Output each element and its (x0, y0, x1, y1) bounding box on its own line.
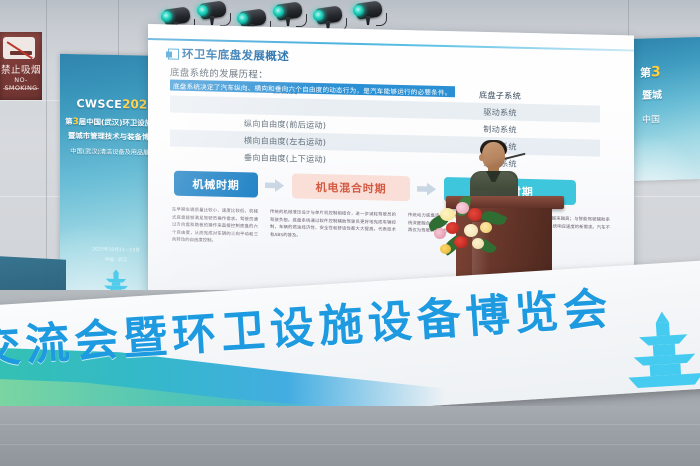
no-smoking-sign: 禁止吸烟 NO-SMOKING (0, 32, 42, 100)
spotlight-icon (272, 1, 306, 27)
wall-seam-vertical (46, 0, 47, 292)
right-banner-line-1: 第3 (640, 64, 661, 81)
slide-bullet-icon (166, 48, 177, 59)
speaker-ear (479, 154, 484, 161)
no-smoking-en-label: NO-SMOKING (0, 76, 42, 92)
right-banner-prefix: 第 (640, 66, 651, 79)
era-chip-mechanical: 机械时期 (174, 171, 258, 198)
banner-logo-text: CWSCE (76, 97, 122, 111)
no-smoking-icon (3, 37, 35, 59)
table-cell: 驱动系统 (400, 103, 600, 120)
floral-arrangement-icon (424, 188, 510, 266)
right-banner-line-2: 暨城 (642, 86, 662, 102)
right-banner-line-3: 中国 (642, 112, 660, 126)
right-banner-ordinal: 3 (651, 64, 661, 80)
spotlight-icon (196, 0, 230, 26)
spotlight-icon (352, 0, 386, 26)
foreground-floor (0, 406, 700, 466)
slide-title: 环卫车底盘发展概述 (166, 45, 289, 64)
era-description-hybrid: 传统的机械液压设计与单片机控制相结合，进一步减轻驾驶员的驾驶负担。底盘系统通过软… (270, 209, 396, 250)
speaker-head (482, 142, 505, 169)
no-smoking-cn-label: 禁止吸烟 (1, 62, 41, 76)
table-cell (170, 104, 400, 109)
right-arrow-icon (264, 178, 286, 194)
screenshot-root: 禁止吸烟 NO-SMOKING CWSCE2025 第3届中国(武汉)环卫设施设… (0, 0, 700, 466)
table-cell: 垂向自由度(上下运动) (170, 149, 400, 166)
era-chip-hybrid: 机电混合时期 (292, 173, 410, 201)
era-description-mechanical: 在早期车辆质量比较小、速度比较低，机械式底盘能够满足驾驶员操作需求。驾驶员通过方… (172, 207, 258, 247)
banner-wave-decoration (632, 125, 700, 181)
projection-screen: 环卫车底盘发展概述 底盘系统的发展历程： 自由度 底盘子系统 驱动系统 纵向自由… (148, 24, 634, 305)
yellow-crane-tower-icon (614, 304, 700, 398)
slide-title-text: 环卫车底盘发展概述 (182, 46, 289, 65)
banner-line1-prefix: 第 (65, 117, 72, 126)
event-banner-right: 第3 暨城 中国 (632, 37, 700, 181)
table-cell: 制动系统 (400, 120, 600, 137)
